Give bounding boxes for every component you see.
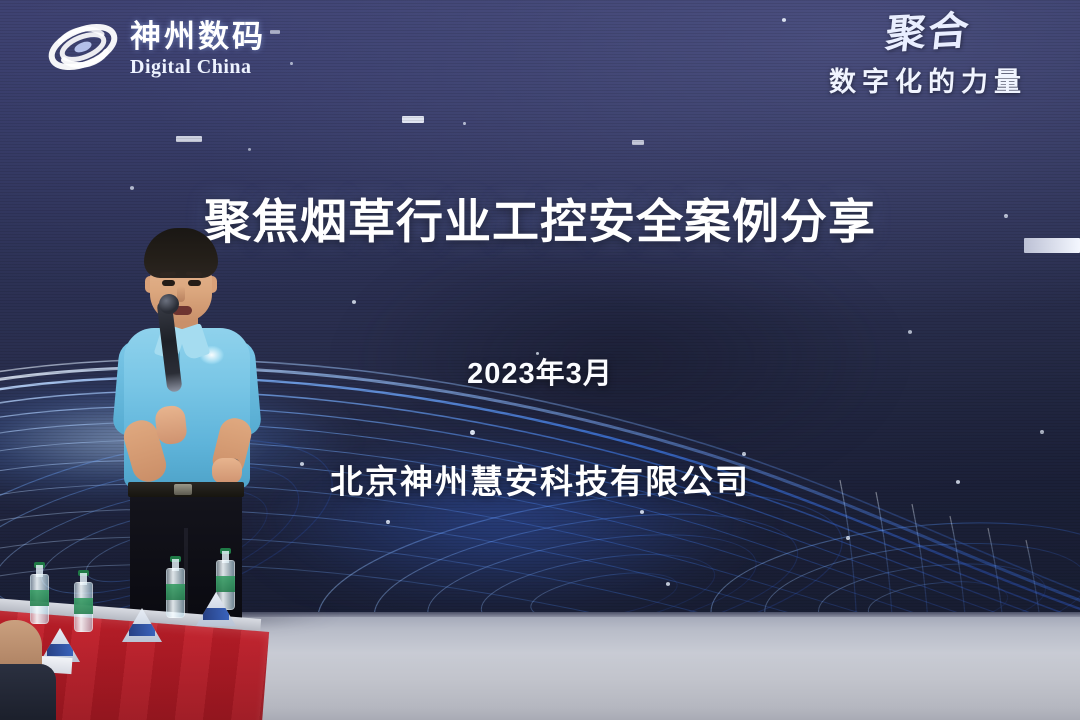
audience-member-body (0, 664, 56, 720)
speaker-right-hand (212, 458, 242, 484)
bottle-label (30, 590, 49, 606)
name-card-strip (129, 624, 155, 636)
bottle-label (74, 598, 93, 614)
bottle-label (216, 576, 235, 592)
name-card-strip (47, 644, 73, 656)
event-brand-lockup: 聚合 数字化的力量 (798, 14, 1058, 99)
bottle-label (166, 584, 185, 600)
speaker-eye-left (162, 280, 175, 286)
digital-china-logo: 神州数码 Digital China (46, 16, 266, 78)
presentation-photo: 神州数码 Digital China 聚合 数字化的力量 聚焦烟草行业工控安全案… (0, 0, 1080, 720)
event-calligraphy: 聚合 (795, 7, 1061, 59)
water-bottle (166, 556, 185, 618)
speaker-belt-buckle (174, 484, 192, 495)
speaker-eye-right (188, 280, 201, 286)
brand-name-cn: 神州数码 (130, 21, 266, 52)
digital-china-swirl-icon (46, 16, 120, 78)
screen-edge-light-bar (1024, 238, 1080, 253)
water-bottle (74, 570, 93, 632)
name-card-strip (203, 608, 229, 620)
water-bottle (30, 562, 49, 624)
speaker-left-hand (154, 405, 188, 446)
event-tagline: 数字化的力量 (798, 60, 1058, 99)
digital-china-wordmark: 神州数码 Digital China (130, 17, 266, 77)
brand-name-en: Digital China (130, 57, 266, 77)
speaker-hair (144, 228, 218, 278)
